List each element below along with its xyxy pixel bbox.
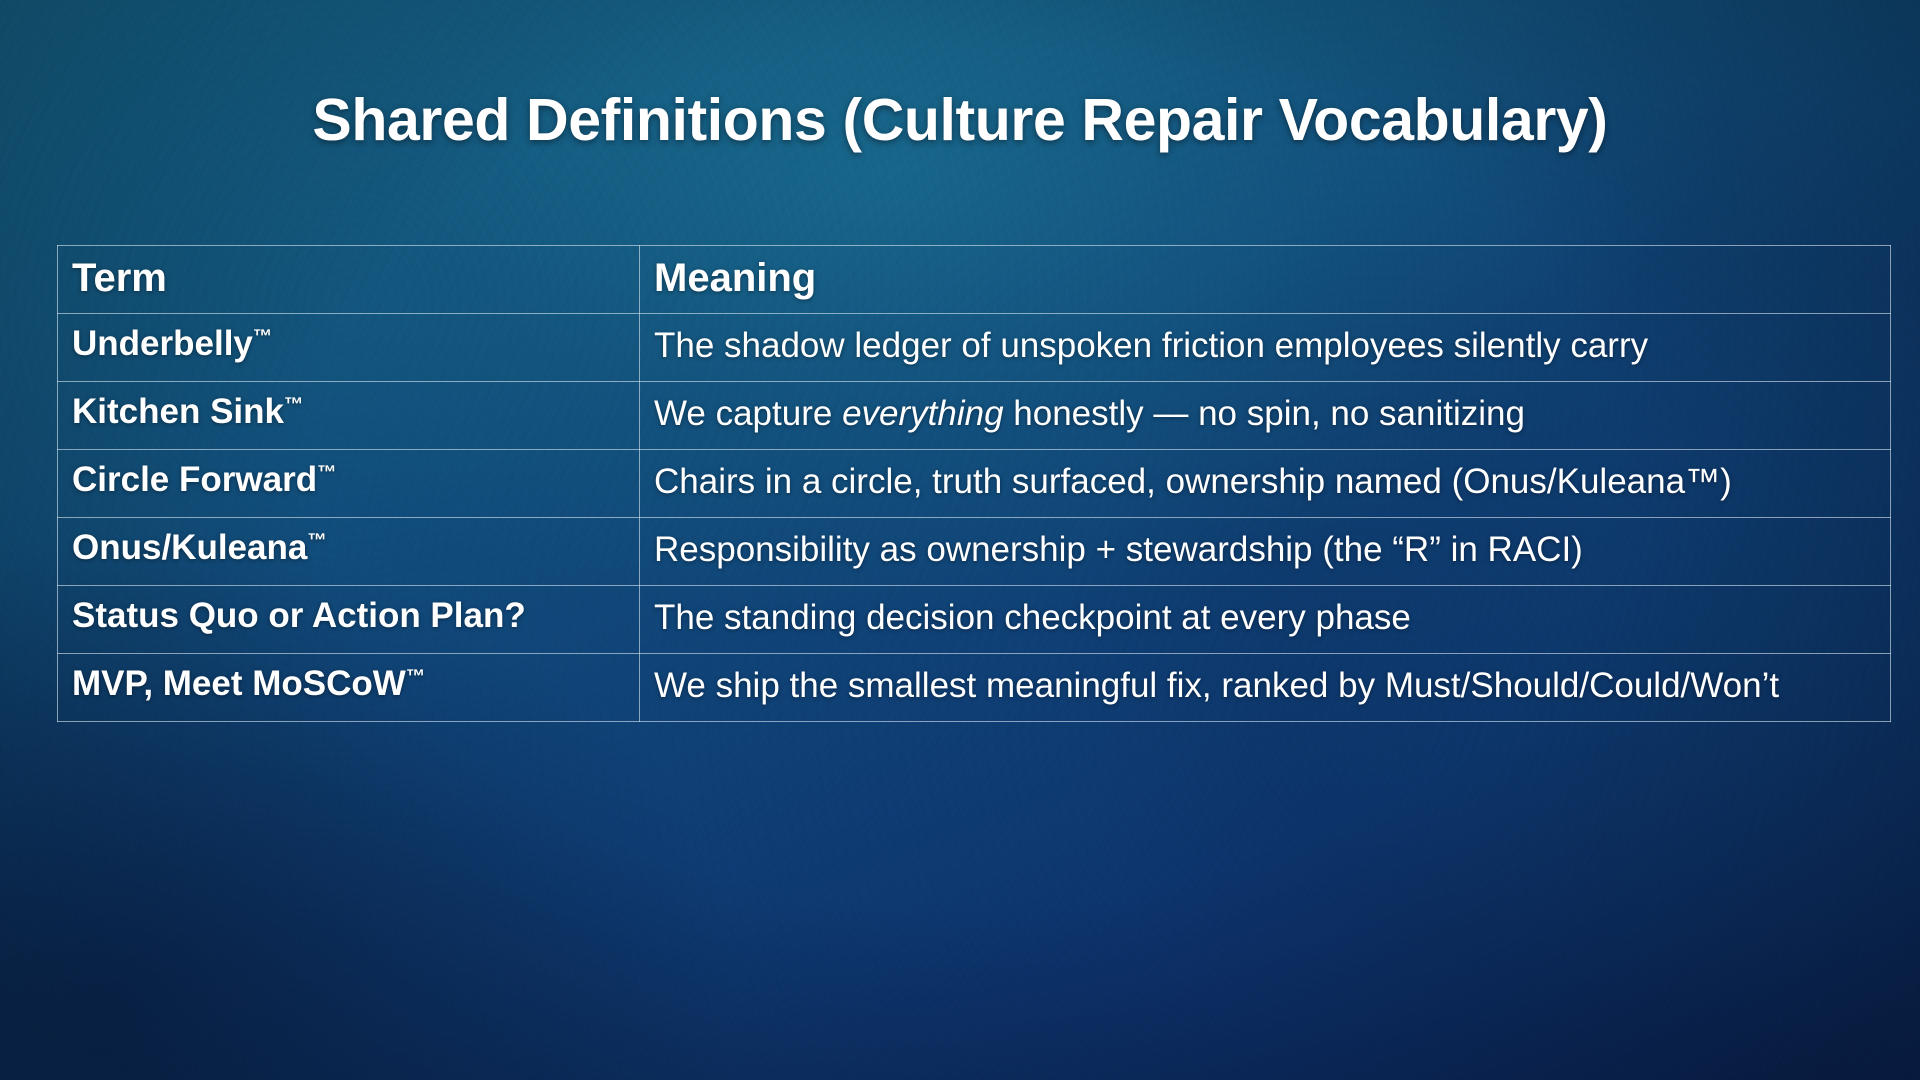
trademark-icon: ™ xyxy=(307,530,326,551)
table-row: Onus/Kuleana™ Responsibility as ownershi… xyxy=(58,517,1891,585)
vocabulary-table: Term Meaning Underbelly™ The shadow ledg… xyxy=(57,245,1891,722)
column-header-term: Term xyxy=(58,246,640,314)
table-body: Underbelly™ The shadow ledger of unspoke… xyxy=(58,314,1891,721)
term-cell: Circle Forward™ xyxy=(58,449,640,517)
term-cell: MVP, Meet MoSCoW™ xyxy=(58,653,640,721)
meaning-text-prefix: We capture xyxy=(654,394,842,433)
trademark-icon: ™ xyxy=(406,666,425,687)
meaning-cell: Responsibility as ownership + stewardshi… xyxy=(640,517,1891,585)
meaning-text-prefix: We ship the smallest meaningful fix, ran… xyxy=(654,666,1779,705)
meaning-cell: The standing decision checkpoint at ever… xyxy=(640,585,1891,653)
term-cell: Kitchen Sink™ xyxy=(58,382,640,450)
table-row: Underbelly™ The shadow ledger of unspoke… xyxy=(58,314,1891,382)
trademark-icon: ™ xyxy=(284,394,303,415)
table-row: Circle Forward™ Chairs in a circle, trut… xyxy=(58,449,1891,517)
table-header: Term Meaning xyxy=(58,246,1891,314)
slide-canvas: Shared Definitions (Culture Repair Vocab… xyxy=(0,0,1920,1080)
term-cell: Onus/Kuleana™ xyxy=(58,517,640,585)
meaning-cell: We capture everything honestly — no spin… xyxy=(640,382,1891,450)
meaning-text-suffix: ™) xyxy=(1685,462,1732,501)
meaning-text-prefix: Chairs in a circle, truth surfaced, owne… xyxy=(654,462,1685,501)
column-header-meaning: Meaning xyxy=(640,246,1891,314)
term-label: Onus/Kuleana xyxy=(72,528,307,567)
meaning-cell: Chairs in a circle, truth surfaced, owne… xyxy=(640,449,1891,517)
table-header-row: Term Meaning xyxy=(58,246,1891,314)
term-label: MVP, Meet MoSCoW xyxy=(72,664,406,703)
term-label: Underbelly xyxy=(72,324,253,363)
term-cell: Underbelly™ xyxy=(58,314,640,382)
meaning-cell: The shadow ledger of unspoken friction e… xyxy=(640,314,1891,382)
table-row: Kitchen Sink™ We capture everything hone… xyxy=(58,382,1891,450)
table-row: Status Quo or Action Plan? The standing … xyxy=(58,585,1891,653)
meaning-text-prefix: Responsibility as ownership + stewardshi… xyxy=(654,530,1583,569)
meaning-text-prefix: The shadow ledger of unspoken friction e… xyxy=(654,326,1648,365)
vocabulary-table-container: Term Meaning Underbelly™ The shadow ledg… xyxy=(57,245,1890,722)
meaning-cell: We ship the smallest meaningful fix, ran… xyxy=(640,653,1891,721)
term-label: Kitchen Sink xyxy=(72,392,284,431)
term-label: Circle Forward xyxy=(72,460,317,499)
meaning-text-prefix: The standing decision checkpoint at ever… xyxy=(654,598,1411,637)
trademark-icon: ™ xyxy=(317,462,336,483)
meaning-text-suffix: honestly — no spin, no sanitizing xyxy=(1004,394,1525,433)
page-title: Shared Definitions (Culture Repair Vocab… xyxy=(0,86,1920,154)
trademark-icon: ™ xyxy=(253,327,272,348)
term-label: Status Quo or Action Plan? xyxy=(72,596,526,635)
meaning-text-italic: everything xyxy=(842,394,1003,433)
table-row: MVP, Meet MoSCoW™ We ship the smallest m… xyxy=(58,653,1891,721)
term-cell: Status Quo or Action Plan? xyxy=(58,585,640,653)
